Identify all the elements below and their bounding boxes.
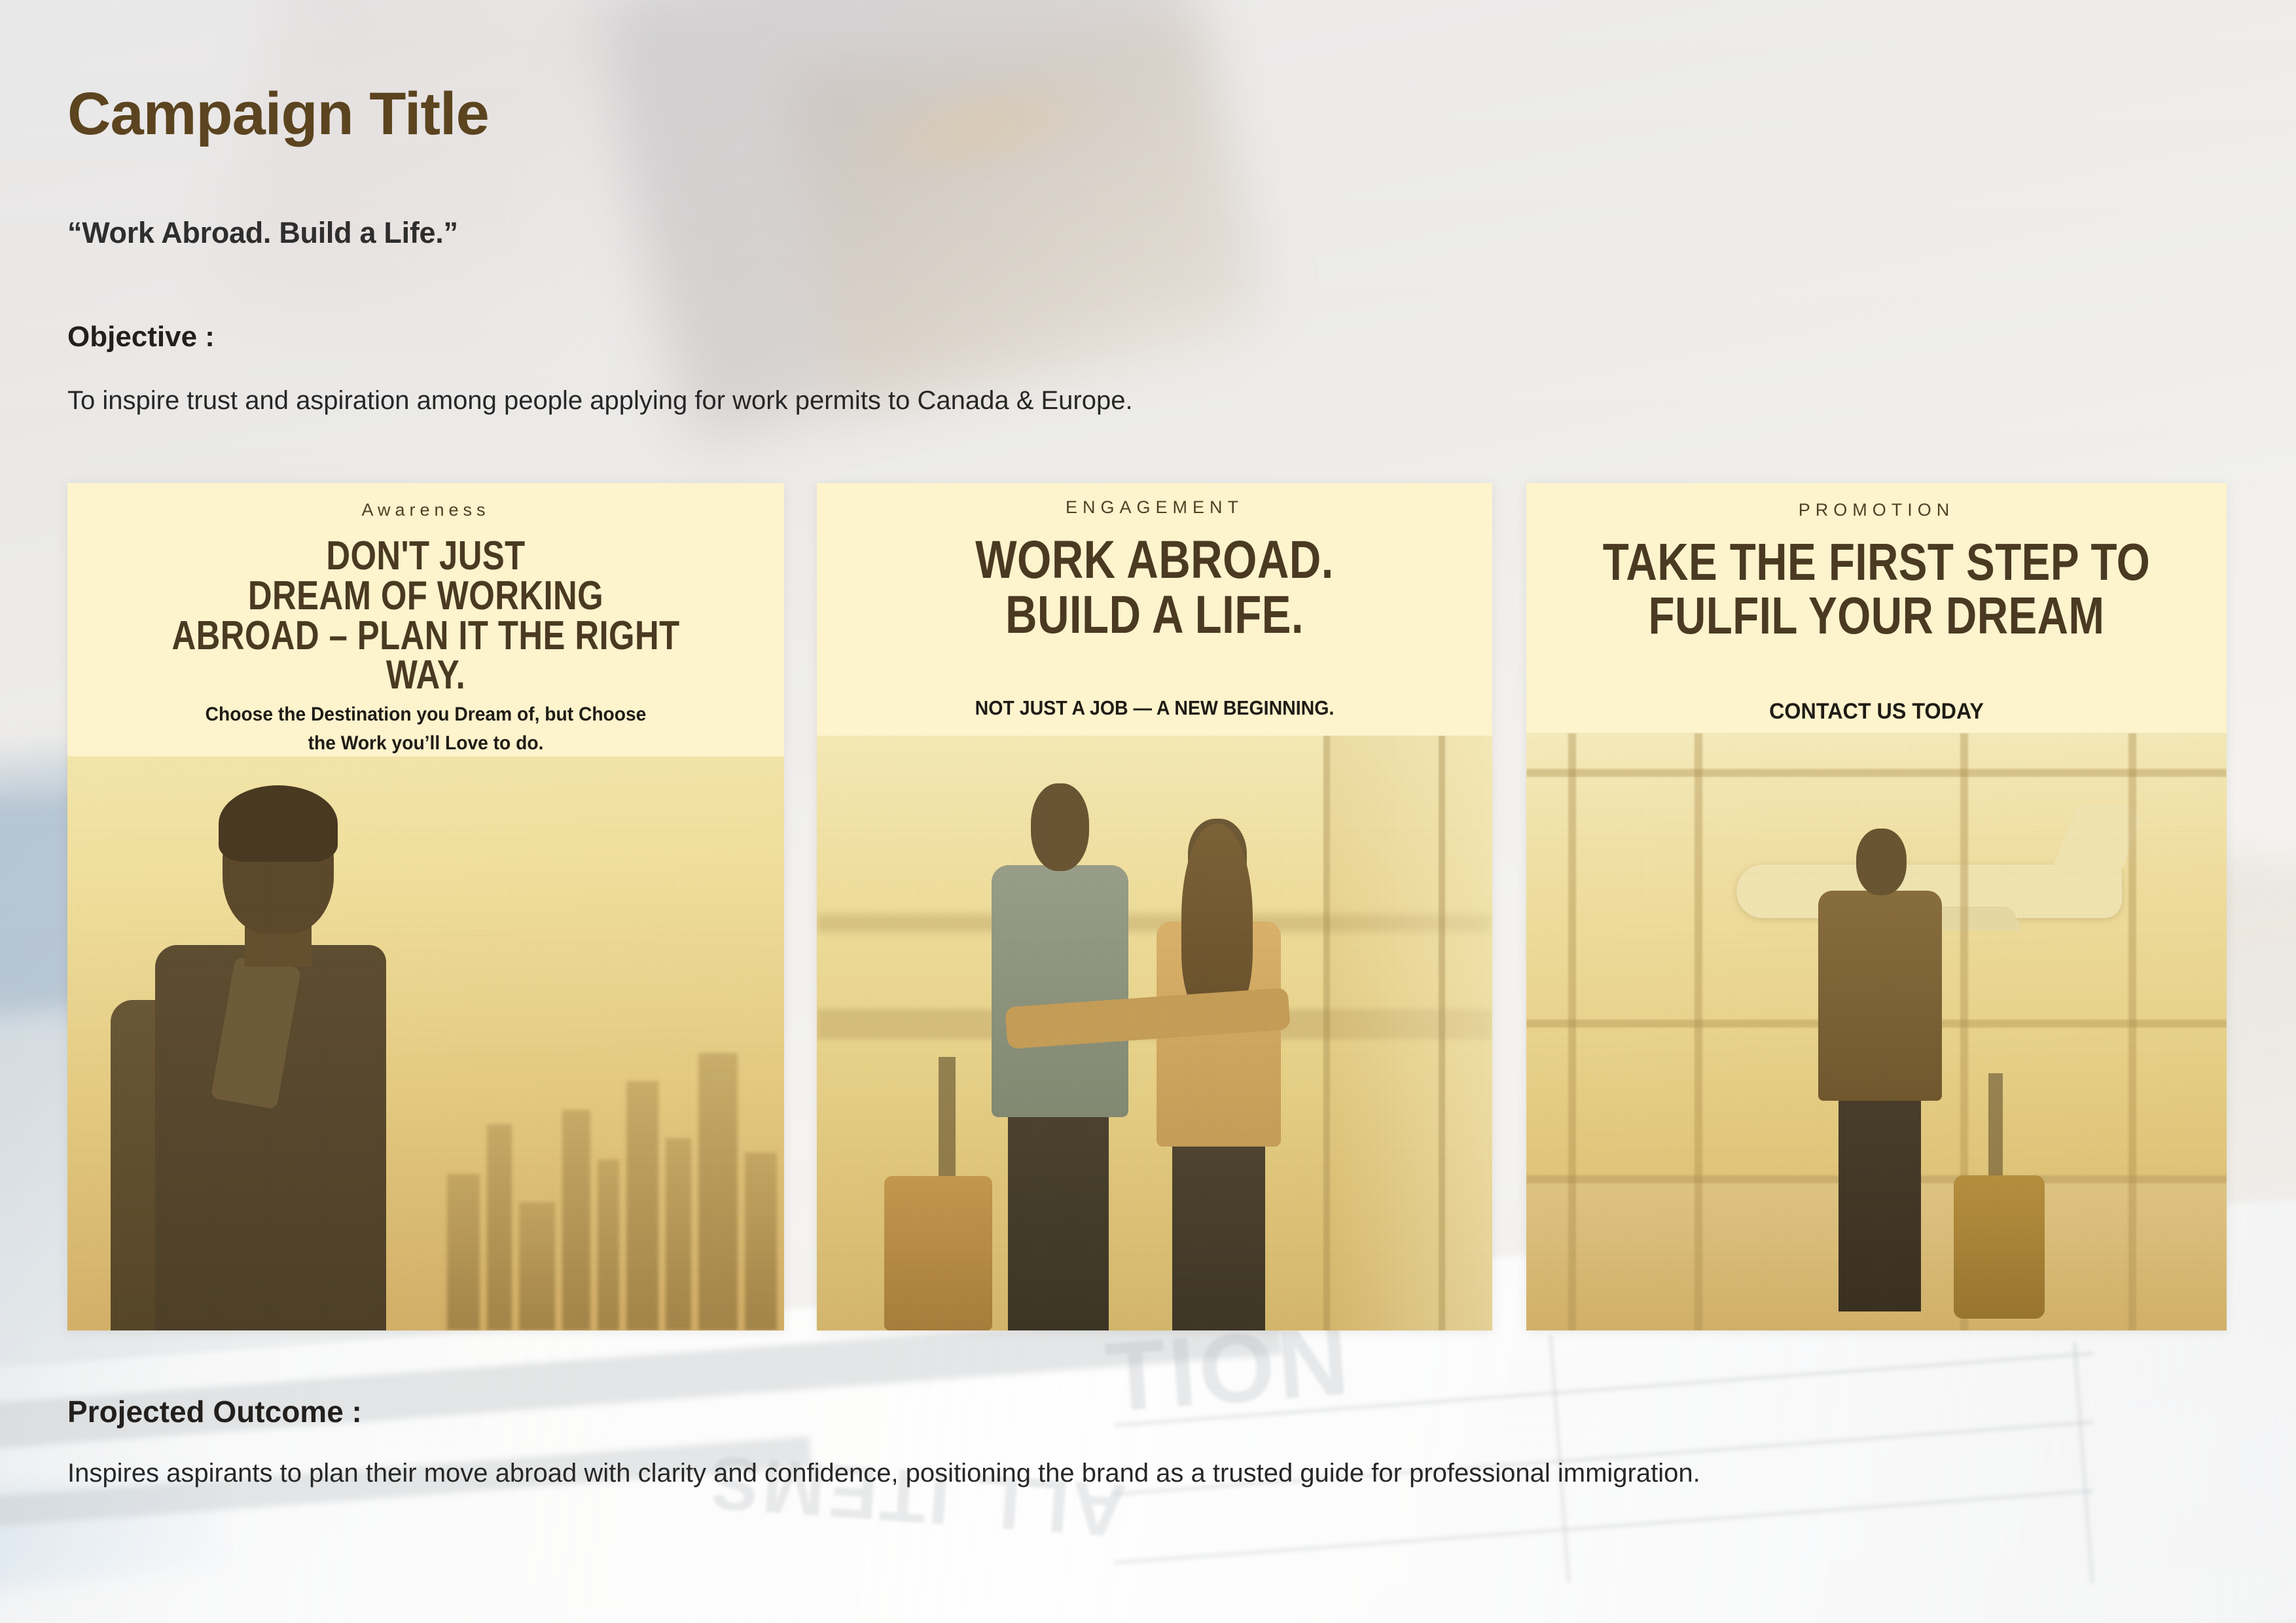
campaign-tagline: “Work Abroad. Build a Life.” [67,216,458,250]
headline-line: WORK ABROAD. [878,533,1431,588]
projected-outcome-label: Projected Outcome : [67,1394,362,1429]
subtext-line: CONTACT US TODAY [1544,699,2210,724]
poster-card-row: Awareness DON'T JUST DREAM OF WORKING AB… [0,483,2296,1330]
poster-image-promotion [1526,733,2227,1330]
card-headline-awareness: DON'T JUST DREAM OF WORKING ABROAD – PLA… [132,537,720,696]
card-kicker-promotion: PROMOTION [1526,500,2227,520]
card-subtext-engagement: NOT JUST A JOB — A NEW BEGINNING. [844,696,1465,720]
objective-text: To inspire trust and aspiration among pe… [67,386,1133,416]
headline-line: BUILD A LIFE. [878,588,1431,643]
subtext-line: Choose the Destination you Dream of, but… [89,700,762,729]
poster-image-engagement [817,736,1492,1330]
page-title: Campaign Title [67,84,489,144]
poster-card-promotion[interactable]: PROMOTION TAKE THE FIRST STEP TO FULFIL … [1526,483,2227,1330]
headline-line: ABROAD – PLAN IT THE RIGHT WAY. [132,616,720,696]
card-subtext-awareness: Choose the Destination you Dream of, but… [89,700,762,757]
headline-line: FULFIL YOUR DREAM [1589,589,2163,643]
projected-outcome-text: Inspires aspirants to plan their move ab… [67,1454,1717,1492]
poster-card-engagement[interactable]: ENGAGEMENT WORK ABROAD. BUILD A LIFE. NO… [817,483,1492,1330]
card-kicker-awareness: Awareness [67,500,784,520]
card-kicker-engagement: ENGAGEMENT [817,497,1492,518]
headline-line: TAKE THE FIRST STEP TO [1589,535,2163,589]
card-headline-engagement: WORK ABROAD. BUILD A LIFE. [878,533,1431,642]
subtext-line: NOT JUST A JOB — A NEW BEGINNING. [844,696,1465,720]
slide-canvas: TION ALL ITEMS Campaign Title “Work Abro… [0,0,2296,1623]
card-subtext-promotion: CONTACT US TODAY [1544,699,2210,724]
poster-card-awareness[interactable]: Awareness DON'T JUST DREAM OF WORKING AB… [67,483,784,1330]
objective-label: Objective : [67,321,215,353]
poster-image-awareness [67,757,784,1330]
subtext-line: the Work you’ll Love to do. [89,729,762,758]
headline-line: DON'T JUST [132,537,720,577]
card-headline-promotion: TAKE THE FIRST STEP TO FULFIL YOUR DREAM [1589,535,2163,642]
headline-line: DREAM OF WORKING [132,577,720,616]
